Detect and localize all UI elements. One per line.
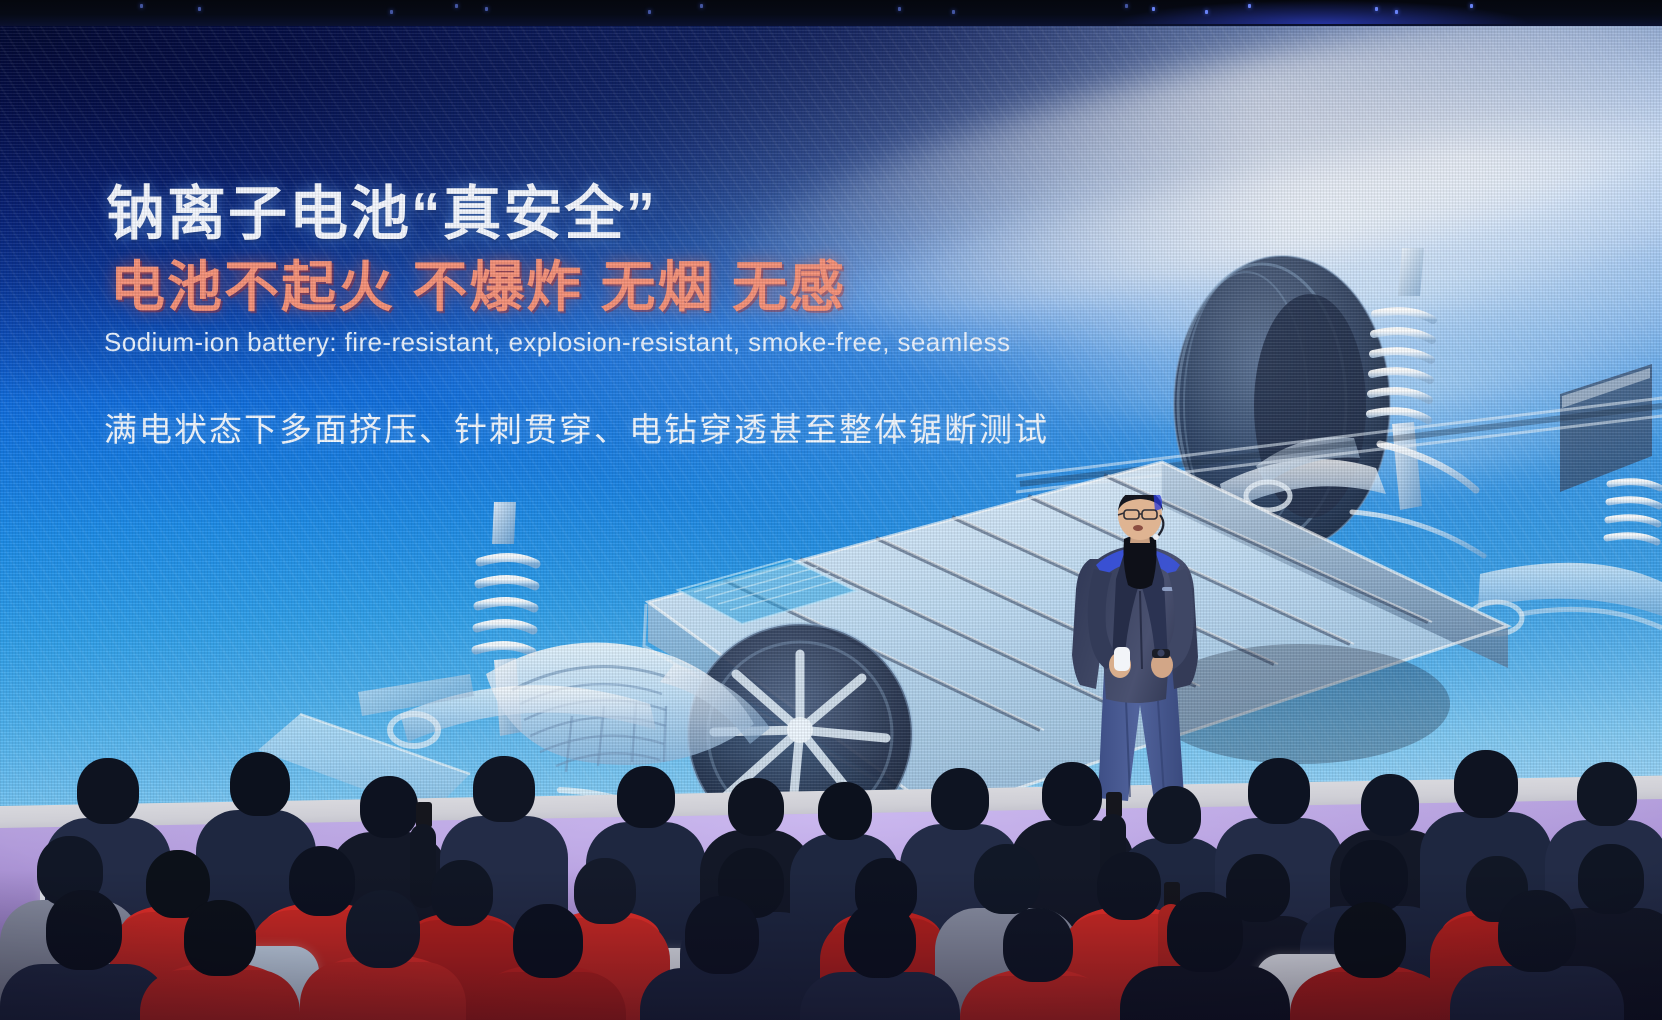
ceiling-led-point	[952, 10, 955, 14]
audience-member	[470, 904, 626, 1020]
ceiling-led-point	[1205, 10, 1208, 14]
audience-head	[77, 758, 139, 824]
ceiling-led-point	[1375, 7, 1378, 11]
audience-torso	[1120, 966, 1290, 1020]
slide-tagline: 电池不起火 不爆炸 无烟 无感	[110, 242, 846, 322]
audience-head	[1042, 762, 1102, 826]
audience-block	[0, 740, 1662, 1020]
audience-head	[1454, 750, 1518, 818]
audience-head	[1577, 762, 1637, 826]
audience-head	[1498, 890, 1576, 972]
audience-torso	[300, 962, 466, 1020]
audience-head	[931, 768, 989, 830]
audience-head	[1248, 758, 1310, 824]
audience-head	[473, 756, 535, 822]
audience-head	[617, 766, 675, 828]
audience-head	[1361, 774, 1419, 836]
ceiling-led-point	[1395, 10, 1398, 14]
ceiling-led-point	[198, 7, 201, 11]
ceiling-led-point	[898, 7, 901, 11]
audience-head	[844, 902, 916, 978]
slide-detail-cn: 满电状态下多面挤压、针刺贯穿、电钻穿透甚至整体锯断测试	[104, 403, 1049, 451]
audience-member	[1120, 892, 1290, 1020]
ceiling-led-point	[390, 10, 393, 14]
slide-headline: 钠离子电池“真安全”	[106, 166, 657, 251]
audience-torso	[960, 976, 1116, 1020]
ceiling-led-point	[1248, 4, 1251, 8]
audience-member	[960, 908, 1116, 1020]
ceiling-led-point	[485, 7, 488, 11]
audience-head	[360, 776, 418, 838]
ceiling-led-point	[1152, 7, 1155, 11]
ceiling-led-point	[700, 4, 703, 8]
audience-head	[1334, 902, 1406, 978]
audience-torso	[140, 970, 300, 1020]
audience-head	[685, 896, 759, 974]
audience-head	[46, 890, 122, 970]
ceiling-led-point	[648, 10, 651, 14]
ceiling-led-point	[140, 4, 143, 8]
ceiling-led-point	[455, 4, 458, 8]
stage-scene: 钠离子电池“真安全” 电池不起火 不爆炸 无烟 无感 Sodium-ion ba…	[0, 0, 1662, 1020]
audience-member	[640, 896, 804, 1020]
audience-head	[184, 900, 256, 976]
audience-head	[728, 778, 784, 836]
audience-member	[140, 900, 300, 1020]
audience-head	[230, 752, 290, 816]
audience-member	[300, 890, 466, 1020]
audience-head	[818, 782, 872, 840]
audience-head	[974, 844, 1040, 914]
audience-head	[513, 904, 583, 978]
audience-torso	[470, 972, 626, 1020]
audience-torso	[1450, 966, 1624, 1020]
audience-torso	[800, 972, 960, 1020]
audience-head	[346, 890, 420, 968]
audience-head	[1147, 786, 1201, 844]
slide-text-block: 钠离子电池“真安全” 电池不起火 不爆炸 无烟 无感 Sodium-ion ba…	[0, 14, 1662, 814]
audience-torso	[640, 968, 804, 1020]
audience-head	[1167, 892, 1243, 972]
ceiling-led-lights	[0, 0, 1662, 26]
slide-subtitle-en: Sodium-ion battery: fire-resistant, expl…	[104, 327, 1010, 358]
ceiling-led-point	[1125, 4, 1128, 8]
audience-member	[1450, 890, 1624, 1020]
audience-torso	[1290, 972, 1450, 1020]
mouth	[1133, 525, 1143, 531]
presentation-clicker	[1114, 647, 1130, 671]
ceiling-led-point	[1470, 4, 1473, 8]
turtleneck	[1124, 535, 1157, 589]
audience-member	[800, 902, 960, 1020]
audience-member	[1290, 902, 1450, 1020]
audience-head	[1003, 908, 1073, 982]
